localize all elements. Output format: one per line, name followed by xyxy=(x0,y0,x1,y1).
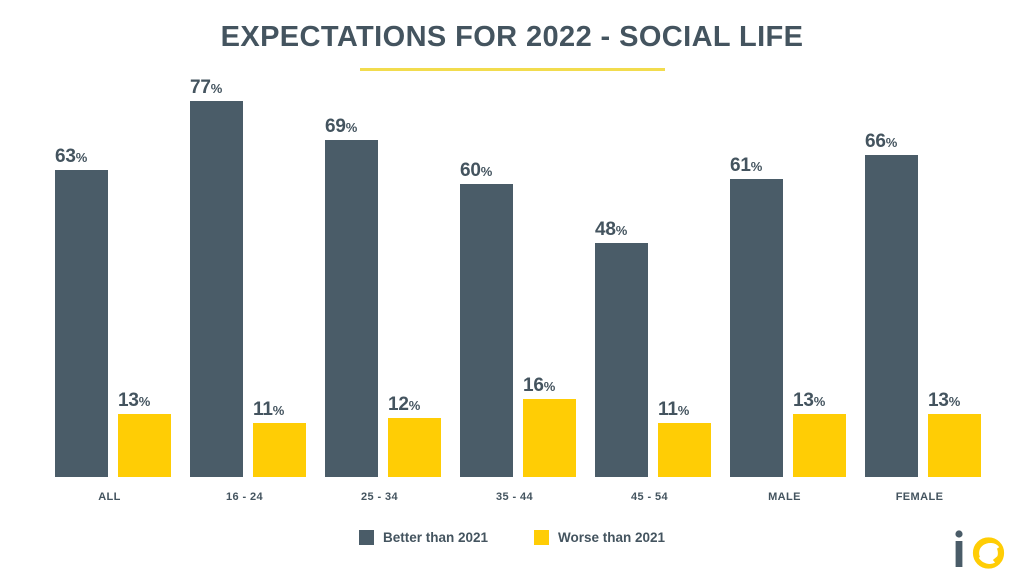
bar-value-number: 13 xyxy=(118,390,139,411)
percent-symbol: % xyxy=(678,403,690,418)
percent-symbol: % xyxy=(211,81,223,96)
bar-value-number: 11 xyxy=(658,399,678,420)
bar-rect[interactable] xyxy=(928,414,981,477)
bar-rect[interactable] xyxy=(190,101,243,477)
percent-symbol: % xyxy=(949,394,961,409)
bar-value-number: 77 xyxy=(190,77,211,98)
bar-value-label: 66% xyxy=(865,132,897,151)
bar-column[interactable]: 66% xyxy=(865,155,918,477)
bar-value-label: 69% xyxy=(325,117,357,136)
bar-value-number: 63 xyxy=(55,146,76,167)
bar-group-bars: 66%13% xyxy=(852,0,987,477)
bar-rect[interactable] xyxy=(865,155,918,477)
bar-value-number: 11 xyxy=(253,399,273,420)
legend-item[interactable]: Better than 2021 xyxy=(359,530,488,545)
bar-value-label: 13% xyxy=(928,391,960,410)
percent-symbol: % xyxy=(139,394,151,409)
bar-value-number: 69 xyxy=(325,116,346,137)
chart-legend: Better than 2021Worse than 2021 xyxy=(0,530,1024,545)
bar-column[interactable]: 13% xyxy=(928,414,981,477)
bar-value-number: 13 xyxy=(793,390,814,411)
percent-symbol: % xyxy=(481,164,493,179)
percent-symbol: % xyxy=(886,135,898,150)
bar-value-label: 13% xyxy=(793,391,825,410)
bar-column[interactable]: 13% xyxy=(793,414,846,477)
bar-column[interactable]: 11% xyxy=(253,423,306,477)
bar-value-label: 48% xyxy=(595,220,627,239)
bar-value-label: 16% xyxy=(523,376,555,395)
category-label: 25 - 34 xyxy=(312,491,447,503)
bar-value-label: 12% xyxy=(388,395,420,414)
bar-value-number: 66 xyxy=(865,131,886,152)
bar-column[interactable]: 77% xyxy=(190,101,243,477)
bar-rect[interactable] xyxy=(388,418,441,477)
iq-logo xyxy=(950,527,1006,571)
percent-symbol: % xyxy=(544,379,556,394)
percent-symbol: % xyxy=(751,159,763,174)
category-label: 35 - 44 xyxy=(447,491,582,503)
bar-value-label: 13% xyxy=(118,391,150,410)
legend-label: Worse than 2021 xyxy=(558,530,665,545)
bar-group-bars: 63%13% xyxy=(42,0,177,477)
bar-rect[interactable] xyxy=(730,179,783,477)
bar-value-label: 60% xyxy=(460,161,492,180)
category-label: 16 - 24 xyxy=(177,491,312,503)
legend-item[interactable]: Worse than 2021 xyxy=(534,530,665,545)
bar-rect[interactable] xyxy=(55,170,108,477)
bar-value-label: 61% xyxy=(730,156,762,175)
bar-column[interactable]: 11% xyxy=(658,423,711,477)
bar-column[interactable]: 61% xyxy=(730,179,783,477)
percent-symbol: % xyxy=(76,150,88,165)
bar-value-label: 11% xyxy=(253,400,284,419)
bar-column[interactable]: 13% xyxy=(118,414,171,477)
bar-group-bars: 61%13% xyxy=(717,0,852,477)
legend-swatch xyxy=(534,530,549,545)
bar-group: 77%11%16 - 24 xyxy=(177,0,312,505)
bar-rect[interactable] xyxy=(253,423,306,477)
bar-value-label: 11% xyxy=(658,400,689,419)
bar-group-bars: 77%11% xyxy=(177,0,312,477)
bar-rect[interactable] xyxy=(460,184,513,477)
category-label: 45 - 54 xyxy=(582,491,717,503)
legend-label: Better than 2021 xyxy=(383,530,488,545)
bar-group: 63%13%ALL xyxy=(42,0,177,505)
bar-column[interactable]: 69% xyxy=(325,140,378,477)
bar-rect[interactable] xyxy=(793,414,846,477)
bar-column[interactable]: 16% xyxy=(523,399,576,477)
percent-symbol: % xyxy=(409,398,421,413)
bar-group-bars: 48%11% xyxy=(582,0,717,477)
bar-value-number: 60 xyxy=(460,160,481,181)
legend-swatch xyxy=(359,530,374,545)
bar-value-number: 48 xyxy=(595,219,616,240)
bar-group: 48%11%45 - 54 xyxy=(582,0,717,505)
bar-group-bars: 60%16% xyxy=(447,0,582,477)
percent-symbol: % xyxy=(346,120,358,135)
bar-value-number: 12 xyxy=(388,394,409,415)
bar-column[interactable]: 63% xyxy=(55,170,108,477)
bar-column[interactable]: 60% xyxy=(460,184,513,477)
chart-plot-area: 63%13%ALL77%11%16 - 2469%12%25 - 3460%16… xyxy=(0,0,1024,505)
category-label: ALL xyxy=(42,491,177,503)
bar-group: 61%13%MALE xyxy=(717,0,852,505)
bar-value-number: 13 xyxy=(928,390,949,411)
bar-column[interactable]: 48% xyxy=(595,243,648,477)
bar-group-bars: 69%12% xyxy=(312,0,447,477)
bar-value-number: 16 xyxy=(523,375,544,396)
percent-symbol: % xyxy=(273,403,285,418)
bar-value-number: 61 xyxy=(730,155,751,176)
bar-rect[interactable] xyxy=(118,414,171,477)
category-label: MALE xyxy=(717,491,852,503)
bar-group: 69%12%25 - 34 xyxy=(312,0,447,505)
bar-rect[interactable] xyxy=(325,140,378,477)
bar-column[interactable]: 12% xyxy=(388,418,441,477)
bar-value-label: 63% xyxy=(55,147,87,166)
bar-group: 66%13%FEMALE xyxy=(852,0,987,505)
percent-symbol: % xyxy=(616,223,628,238)
bar-group: 60%16%35 - 44 xyxy=(447,0,582,505)
bar-value-label: 77% xyxy=(190,78,222,97)
percent-symbol: % xyxy=(814,394,826,409)
bar-rect[interactable] xyxy=(658,423,711,477)
bar-rect[interactable] xyxy=(595,243,648,477)
bar-rect[interactable] xyxy=(523,399,576,477)
category-label: FEMALE xyxy=(852,491,987,503)
